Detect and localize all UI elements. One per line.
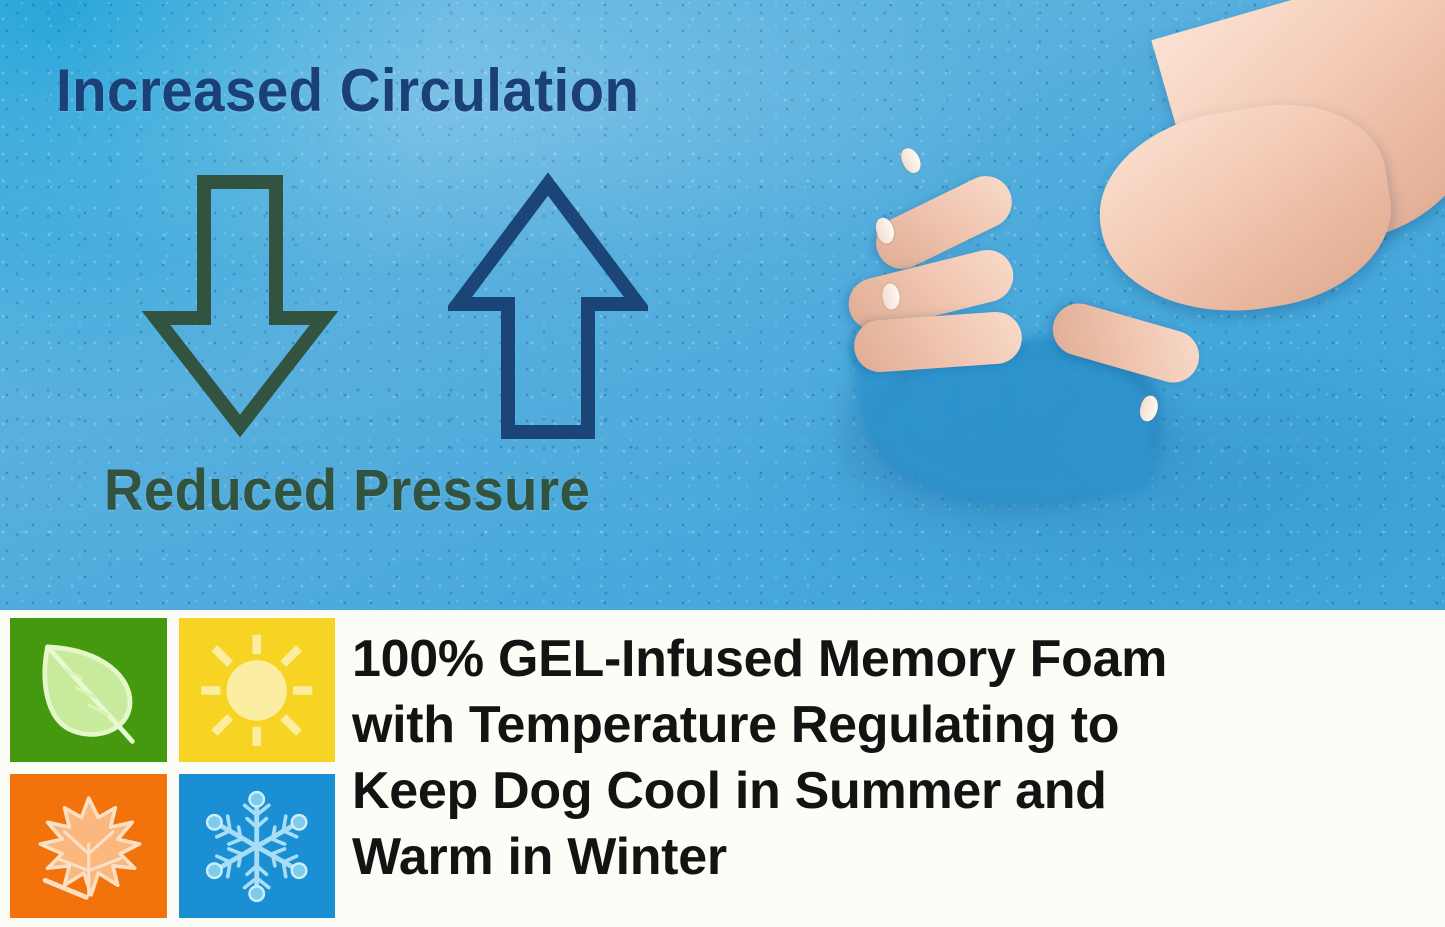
maple-leaf-icon xyxy=(23,786,154,907)
gel-foam-photo-panel: Increased Circulation Reduced Pressure xyxy=(0,0,1445,610)
snowflake-icon xyxy=(191,786,322,907)
feature-copy: 100% GEL-Infused Memory Foam with Temper… xyxy=(352,626,1437,890)
leaf-icon xyxy=(23,630,154,751)
arrow-down-icon xyxy=(140,170,340,440)
copy-line-4: Warm in Winter xyxy=(352,824,1437,890)
increased-circulation-label: Increased Circulation xyxy=(56,56,639,125)
hand-palm xyxy=(1086,89,1404,332)
arrow-up-icon xyxy=(448,168,648,448)
season-icon-grid xyxy=(10,618,335,918)
copy-line-1: 100% GEL-Infused Memory Foam xyxy=(352,626,1437,692)
copy-line-3: Keep Dog Cool in Summer and xyxy=(352,758,1437,824)
product-feature-banner: Increased Circulation Reduced Pressure xyxy=(0,0,1445,927)
hand-on-foam xyxy=(800,0,1445,610)
fingernail xyxy=(898,145,925,176)
feature-callout-band: 100% GEL-Infused Memory Foam with Temper… xyxy=(0,610,1445,927)
copy-line-2: with Temperature Regulating to xyxy=(352,692,1437,758)
season-tile-winter xyxy=(179,774,336,918)
sun-icon xyxy=(191,630,322,751)
season-tile-spring xyxy=(10,618,167,762)
reduced-pressure-label: Reduced Pressure xyxy=(104,457,590,524)
season-tile-summer xyxy=(179,618,336,762)
season-tile-autumn xyxy=(10,774,167,918)
